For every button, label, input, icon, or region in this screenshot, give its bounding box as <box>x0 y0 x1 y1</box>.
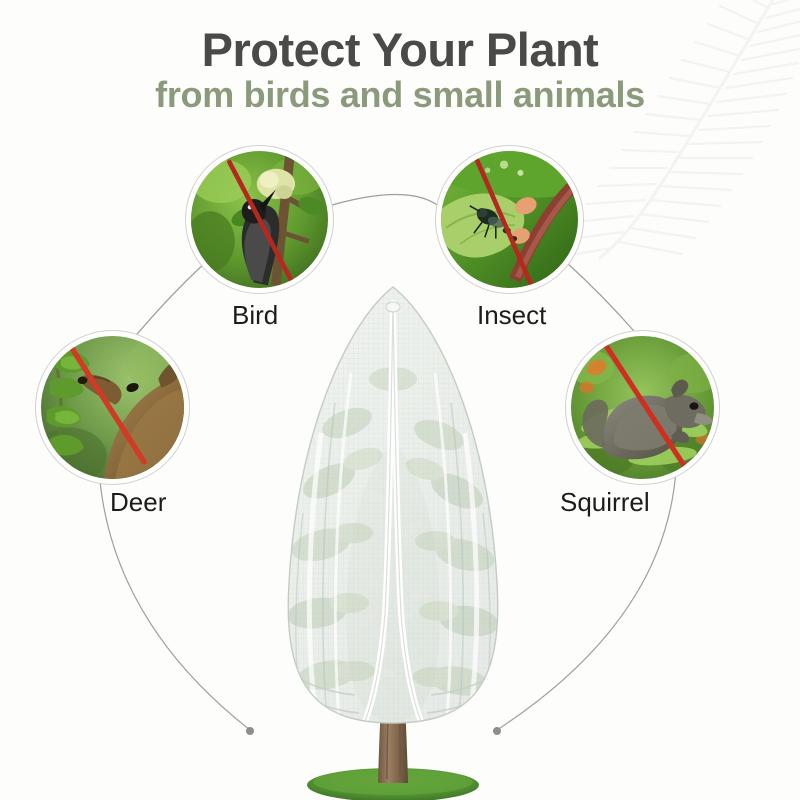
pest-bubble-bird[interactable] <box>185 145 334 294</box>
squirrel-in-foliage-photo <box>571 336 714 479</box>
page-title: Protect Your Plant <box>0 22 800 77</box>
pest-label-deer: Deer <box>110 487 166 518</box>
infographic-canvas: Protect Your Plant from birds and small … <box>0 0 800 800</box>
product-plant-net-cover <box>243 283 543 800</box>
pest-label-insect: Insect <box>477 300 546 331</box>
page-subtitle: from birds and small animals <box>0 74 800 116</box>
pest-bubble-squirrel[interactable] <box>565 330 720 485</box>
pest-label-squirrel: Squirrel <box>560 487 650 518</box>
pest-label-bird: Bird <box>232 300 278 331</box>
pest-bubble-deer[interactable] <box>35 330 190 485</box>
connector-bird-insect <box>332 194 440 207</box>
netted-plant-illustration <box>243 283 543 800</box>
pest-bubble-insect[interactable] <box>435 145 584 294</box>
insect-on-leaf-photo <box>441 151 578 288</box>
bird-pecking-bud-photo <box>191 151 328 288</box>
connector-bird-deer <box>128 262 206 345</box>
deer-eating-leaves-photo <box>41 336 184 479</box>
